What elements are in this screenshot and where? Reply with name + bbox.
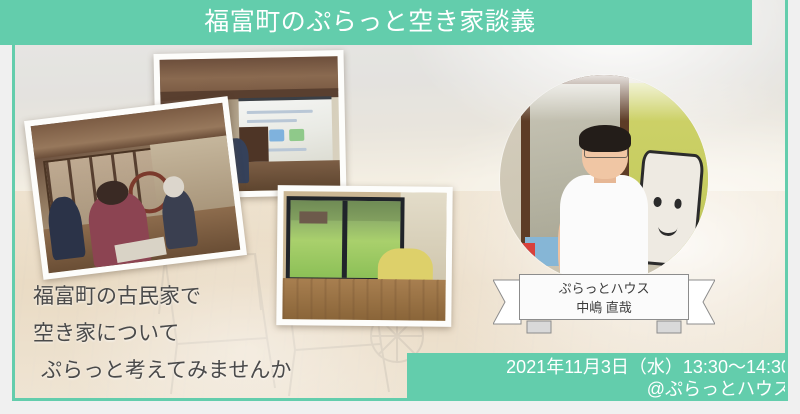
title-banner: 福富町のぷらっと空き家談義: [0, 0, 752, 45]
speaker-nameplate: ぷらっとハウス 中嶋 直哉: [493, 272, 715, 334]
presentation-slide: ぷらっとハウス 中嶋 直哉 福富町の古民家で 空き家について ぷらっと考えてみま…: [12, 0, 788, 401]
nameplate-text-box: ぷらっとハウス 中嶋 直哉: [519, 274, 689, 320]
tagline-line-3: ぷらっと考えてみませんか: [33, 352, 373, 389]
portrait-red-sign: [517, 243, 536, 262]
speaker-portrait: [500, 75, 708, 283]
mascot-eye-right-icon: [673, 199, 682, 209]
tagline-block: 福富町の古民家で 空き家について ぷらっと考えてみませんか: [33, 278, 373, 389]
portrait-hair: [579, 125, 631, 152]
event-venue: @ぷらっとハウス: [407, 378, 788, 400]
event-details-band: 2021年11月3日（水）13:30〜14:30 @ぷらっとハウス: [407, 353, 788, 401]
mascot-eye-left-icon: [653, 197, 662, 207]
slide-page: ぷらっとハウス 中嶋 直哉 福富町の古民家で 空き家について ぷらっと考えてみま…: [0, 0, 800, 414]
speaker-name: 中嶋 直哉: [520, 298, 688, 317]
tagline-line-2: 空き家について: [33, 315, 373, 352]
page-title: 福富町のぷらっと空き家談義: [0, 0, 752, 45]
speaker-organization: ぷらっとハウス: [520, 279, 688, 298]
portrait-top-light: [500, 75, 708, 121]
photo-gathering-image: [31, 103, 241, 273]
event-datetime: 2021年11月3日（水）13:30〜14:30: [407, 356, 788, 378]
photo-riceview-mullion: [341, 201, 347, 278]
photo-community-gathering: [24, 96, 247, 280]
mascot-mouth-icon: [657, 217, 678, 237]
photo-riceview-shed: [299, 211, 328, 224]
tagline-line-1: 福富町の古民家で: [33, 278, 373, 315]
portrait-white-tshirt: [560, 175, 647, 283]
